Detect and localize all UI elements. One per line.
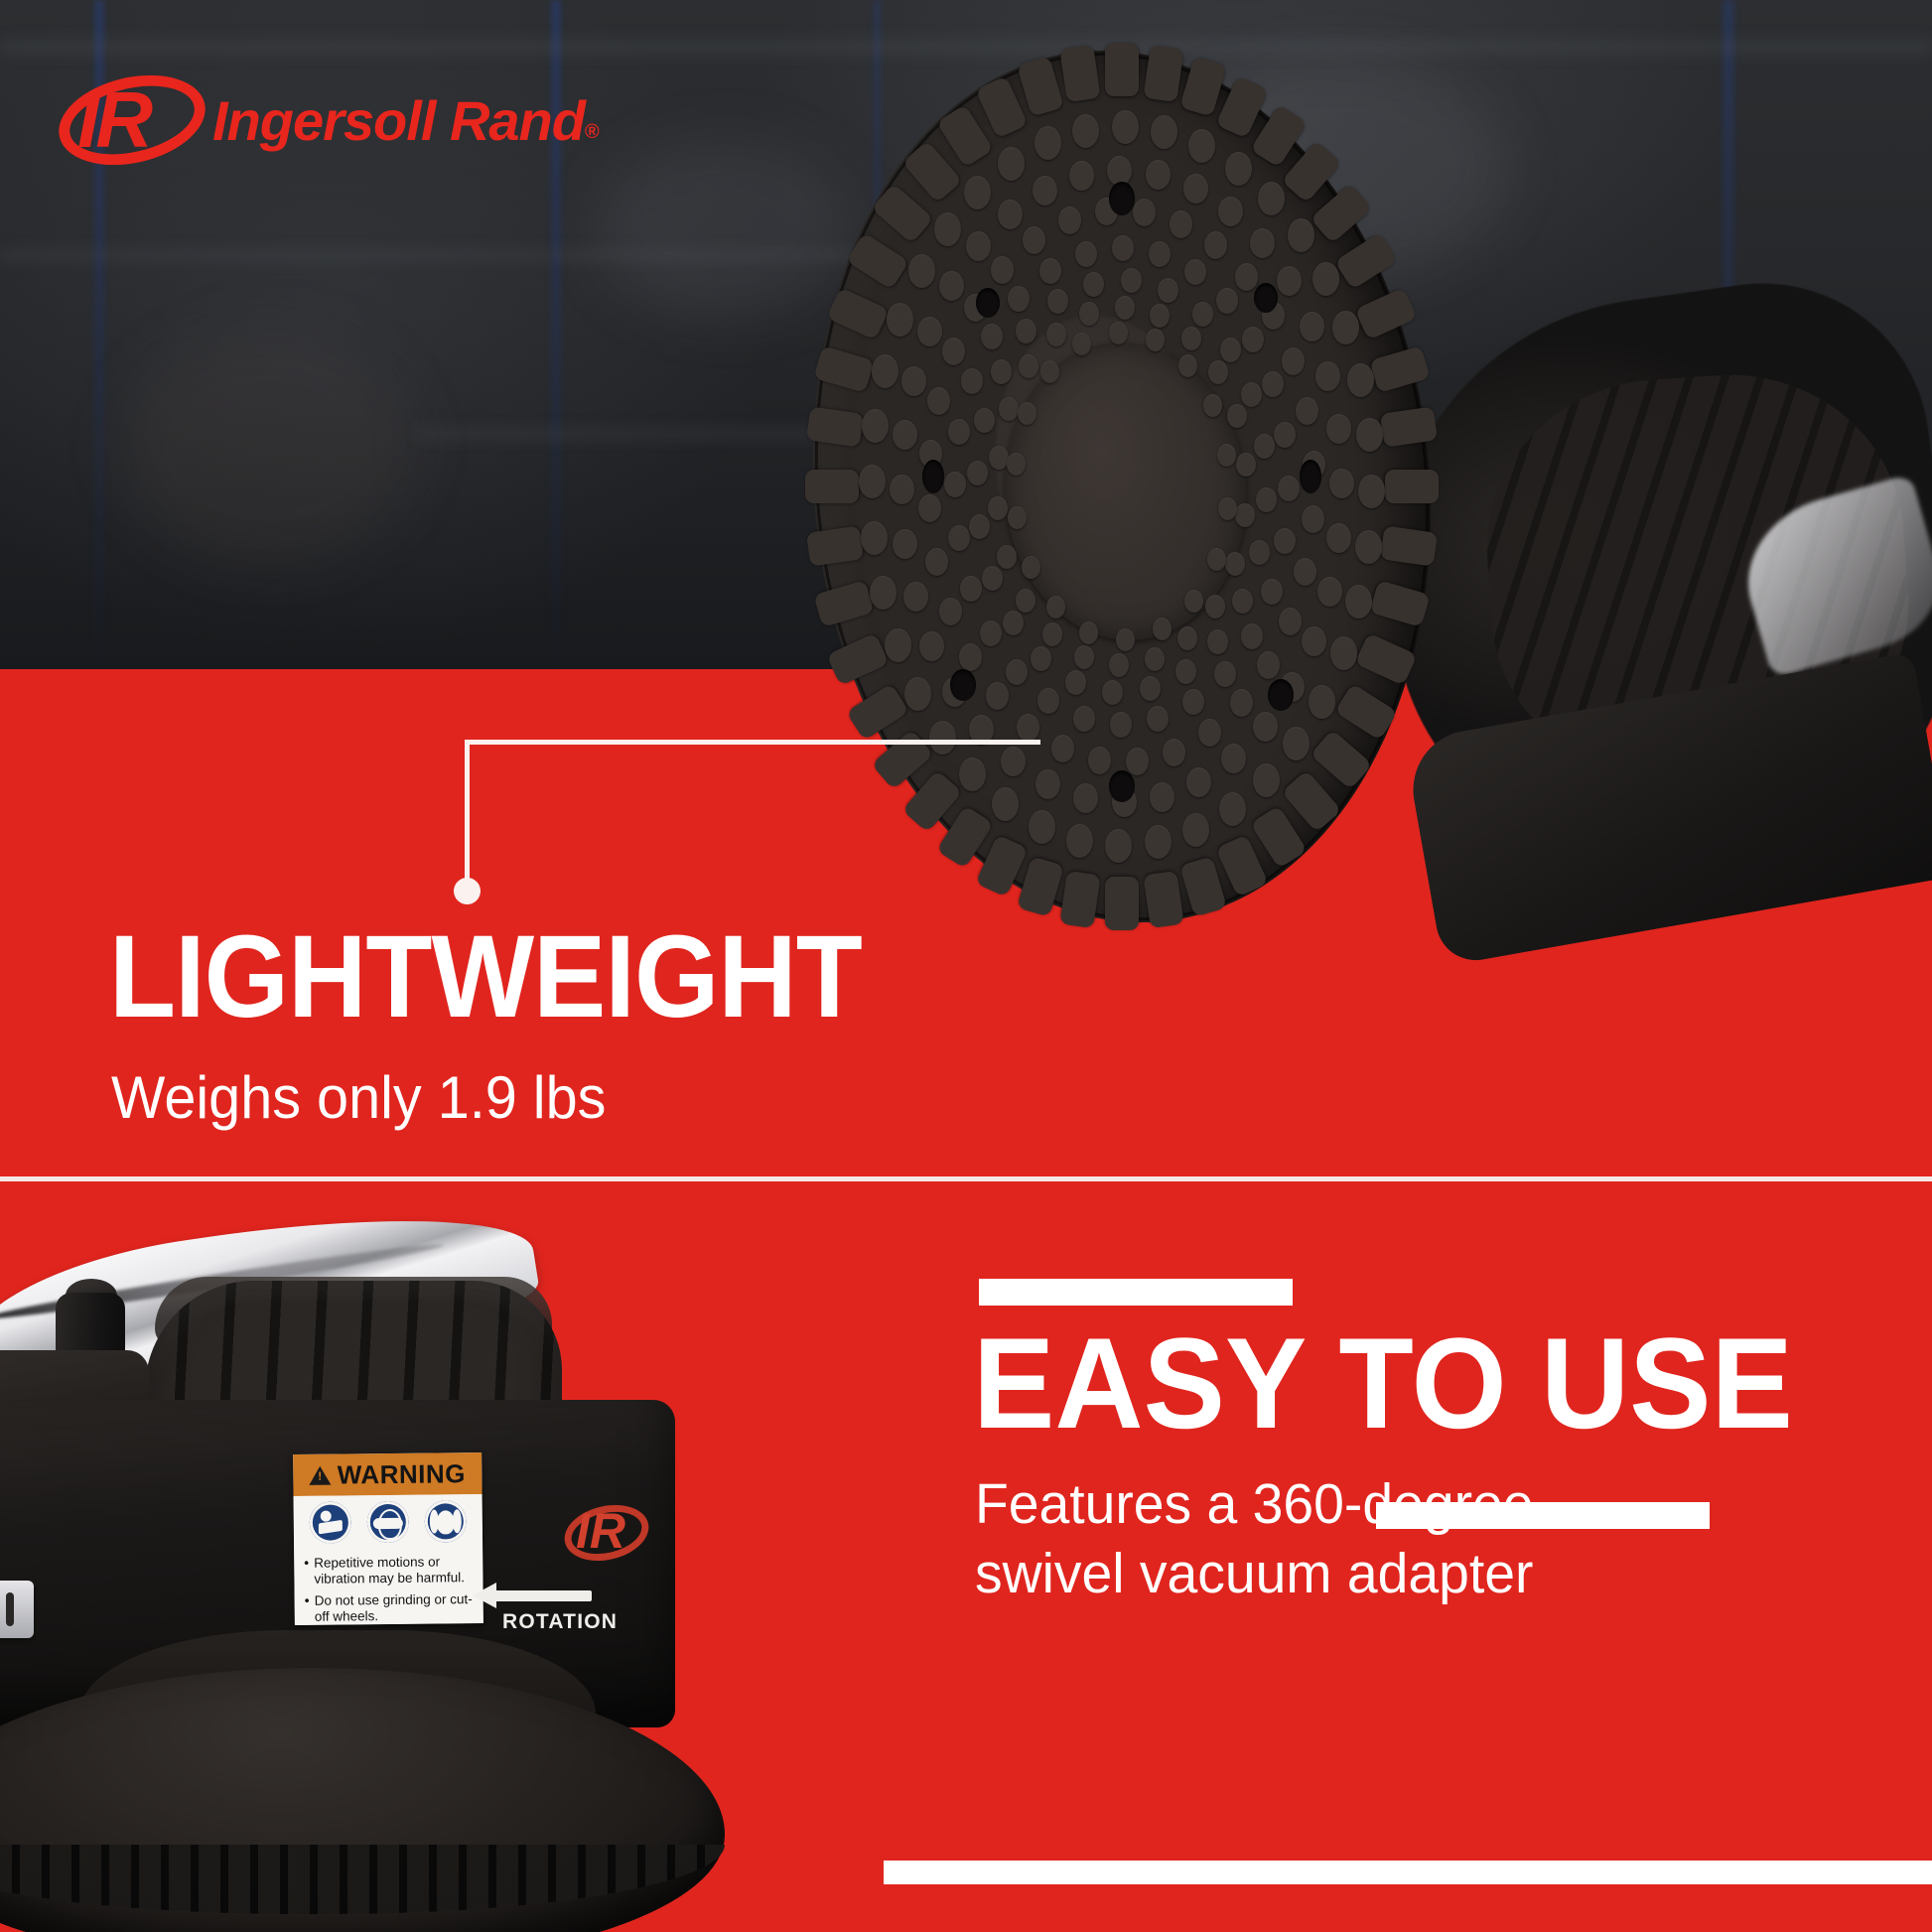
pad-nub <box>1315 361 1340 391</box>
pad-nub <box>1207 548 1226 571</box>
pad-nub <box>1205 595 1225 619</box>
pad-nub <box>1219 792 1246 826</box>
pad-nub <box>1170 210 1192 238</box>
vacuum-hole <box>1300 460 1321 493</box>
warning-bullet-list: Repetitive motions or vibration may be h… <box>294 1548 483 1625</box>
pad-nub <box>1150 782 1174 812</box>
pad-nub <box>1302 505 1324 533</box>
pad-nub <box>1121 268 1142 293</box>
rotation-indicator: ROTATION <box>467 1581 596 1646</box>
pad-nub <box>1225 152 1252 186</box>
pad-nub <box>1198 719 1221 747</box>
pad-nub <box>904 677 931 711</box>
pad-nub <box>1182 813 1209 847</box>
pad-nub <box>1022 556 1040 579</box>
vacuum-hole <box>976 288 1000 318</box>
pad-nub <box>1253 712 1278 742</box>
pad-nub <box>939 598 962 625</box>
pad-nub <box>1242 327 1264 352</box>
pad-nub <box>1072 333 1091 355</box>
vacuum-hole <box>950 669 976 701</box>
pad-nub <box>1203 394 1222 417</box>
ir-logo-letters: IR <box>576 1506 625 1556</box>
pad-nub <box>1047 289 1068 314</box>
ir-monogram-icon: IR <box>58 71 208 169</box>
pad-lug <box>806 525 864 566</box>
pad-nub <box>1153 618 1172 640</box>
vacuum-hole <box>1254 283 1278 313</box>
pad-nub <box>1225 552 1245 576</box>
pad-nub <box>1112 235 1134 261</box>
pad-nub <box>967 461 988 485</box>
pad-nub <box>1088 747 1111 774</box>
pad-nub <box>870 576 897 610</box>
pad-nub <box>1355 530 1382 564</box>
pad-nub <box>927 387 950 415</box>
pad-nub <box>1214 661 1236 687</box>
pad-nub <box>1066 824 1093 858</box>
pad-nub <box>861 521 888 555</box>
pad-nub <box>1008 506 1027 529</box>
pad-nub <box>1317 577 1342 607</box>
pad-nub <box>918 494 941 522</box>
pad-nub <box>893 420 917 450</box>
warning-header-bar: WARNING <box>293 1452 482 1496</box>
pad-nub <box>1254 434 1275 459</box>
warning-pictogram-row <box>294 1494 483 1550</box>
pad-nub <box>1145 647 1165 671</box>
pad-nub <box>989 446 1009 470</box>
pad-nub <box>1230 689 1253 717</box>
pad-nub <box>1241 623 1263 649</box>
pad-nub <box>1033 176 1057 206</box>
pad-nub <box>1235 263 1258 291</box>
pad-nub <box>991 359 1012 384</box>
vacuum-hole <box>1268 679 1294 711</box>
pad-nub <box>1058 207 1081 234</box>
pad-nub <box>1029 810 1055 844</box>
logo-ir-letters: IR <box>77 80 149 160</box>
pad-nub <box>1178 354 1197 377</box>
pad-nub <box>939 271 964 301</box>
read-manual-icon <box>310 1501 351 1543</box>
light-blur <box>119 328 417 566</box>
pad-nub <box>1302 626 1326 656</box>
pad-nub <box>1249 540 1270 565</box>
pad-nub <box>1175 659 1196 684</box>
pad-nub <box>1261 579 1283 605</box>
pad-lug <box>1385 470 1439 503</box>
pad-nub <box>982 566 1003 591</box>
pad-nub <box>1115 296 1135 320</box>
pad-nub <box>1232 589 1253 614</box>
vacuum-hole <box>922 460 944 493</box>
safety-glasses-icon <box>367 1501 409 1543</box>
manual-head-shape <box>321 1511 332 1522</box>
earmuff-head-shape <box>437 1510 455 1534</box>
pad-nub <box>872 354 898 388</box>
pad-nub <box>929 721 956 755</box>
pad-nub <box>1073 783 1098 813</box>
callout-line-vertical <box>465 740 470 891</box>
pad-lug <box>1105 877 1139 930</box>
pad-nub <box>960 576 982 602</box>
pad-lug <box>1380 525 1438 566</box>
pad-nub <box>991 256 1014 284</box>
pad-nub <box>1046 596 1065 619</box>
pad-nub <box>885 628 911 662</box>
vacuum-hole <box>1109 770 1135 802</box>
pad-nub <box>1253 763 1280 797</box>
pad-nub <box>1133 199 1156 226</box>
pad-nub <box>1112 110 1139 144</box>
pad-nub <box>1102 680 1123 705</box>
pad-nub <box>1065 670 1086 695</box>
accent-bar-top <box>979 1279 1293 1306</box>
pad-nub <box>1073 706 1095 732</box>
pad-nub <box>887 303 913 337</box>
pad-nub <box>1181 327 1201 350</box>
warning-header-text: WARNING <box>338 1458 466 1490</box>
pad-nub <box>1218 197 1243 226</box>
pad-nub <box>1282 347 1305 375</box>
pad-nub <box>1075 241 1097 267</box>
pad-nub <box>1006 659 1028 685</box>
warning-triangle-icon <box>310 1465 332 1484</box>
pad-nub <box>903 582 928 612</box>
pad-nub <box>862 409 889 443</box>
pad-nub <box>1079 621 1098 644</box>
pad-nub <box>1074 645 1094 669</box>
ingersoll-rand-logo: IR Ingersoll Rand® <box>58 71 599 169</box>
pad-nub <box>1278 476 1300 501</box>
pad-lug <box>1060 871 1101 928</box>
pad-nub <box>1035 126 1061 160</box>
pad-lug <box>805 470 859 503</box>
bottom-accent-bar <box>884 1861 1932 1884</box>
pad-nub <box>948 525 970 551</box>
glasses-lens-shape <box>373 1518 403 1529</box>
pad-nub <box>1051 735 1074 762</box>
pad-nub <box>1326 414 1351 444</box>
pad-nub <box>1031 646 1051 671</box>
speed-control-notch <box>6 1592 14 1626</box>
ir-logo-on-body: IR <box>564 1502 673 1578</box>
feature-subtitle-easy-to-use: Features a 360-degree swivel vacuum adap… <box>975 1469 1668 1608</box>
pad-lug <box>1143 871 1183 928</box>
pad-nub <box>1001 747 1026 776</box>
pad-nub <box>1145 825 1172 859</box>
pad-nub <box>1279 608 1302 635</box>
pad-nub <box>1105 829 1132 863</box>
pad-lug <box>1105 43 1139 96</box>
pad-nub <box>934 212 961 246</box>
pad-nub <box>1356 418 1383 452</box>
pad-nub <box>1003 611 1024 635</box>
pad-nub <box>901 366 926 396</box>
hearing-protection-icon <box>425 1500 467 1542</box>
rotation-label: ROTATION <box>502 1610 618 1634</box>
pad-nub <box>1236 453 1256 477</box>
pad-nub <box>1163 739 1185 766</box>
registered-mark: ® <box>585 121 599 143</box>
rotation-arrow-icon <box>492 1590 592 1601</box>
pad-nub <box>1227 404 1247 428</box>
pad-nub <box>917 317 942 346</box>
pad-nub <box>859 465 886 498</box>
pad-nub <box>959 758 986 791</box>
callout-line-horizontal <box>465 740 1040 745</box>
warning-label: WARNING Repetitive motions or vibration … <box>293 1452 483 1625</box>
pad-nub <box>1218 497 1237 520</box>
pad-nub <box>1126 748 1149 775</box>
pad-lug <box>1143 45 1183 102</box>
pad-nub <box>1274 528 1296 554</box>
rotation-arrow-head-icon <box>473 1583 496 1608</box>
pad-nub <box>1072 114 1099 148</box>
pad-nub <box>988 496 1008 520</box>
vacuum-hole <box>1109 182 1135 215</box>
sanding-pad-photo <box>814 50 1449 933</box>
pad-nub <box>1017 714 1039 742</box>
pad-nub <box>986 682 1009 710</box>
manual-book-shape <box>319 1520 343 1535</box>
pad-nub <box>1217 444 1236 467</box>
callout-dot <box>454 878 481 904</box>
warning-bullet: Do not use grinding or cut-off wheels. <box>305 1591 476 1625</box>
feature-subtitle-lightweight: Weighs only 1.9 lbs <box>111 1065 606 1131</box>
feature-title-easy-to-use: EASY TO USE <box>973 1315 1793 1450</box>
pad-nub <box>1309 685 1335 719</box>
pad-nub <box>1184 590 1203 613</box>
pad-nub <box>1192 302 1213 327</box>
pad-nub <box>1042 622 1062 646</box>
logo-brand-name: Ingersoll Rand <box>212 89 585 152</box>
pad-nub <box>1250 228 1275 258</box>
pad-nub <box>908 254 935 288</box>
pad-nub <box>1186 767 1211 797</box>
pad-nub <box>1294 558 1316 586</box>
pad-nub <box>890 475 914 504</box>
logo-wordmark: Ingersoll Rand® <box>212 88 599 153</box>
pad-nub <box>1007 453 1026 476</box>
pad-lug <box>1380 407 1438 448</box>
pad-nub <box>1216 288 1238 314</box>
feature-subtitle-wrap: Features a 360-degree swivel vacuum adap… <box>975 1469 1710 1608</box>
pad-nub <box>1258 182 1285 215</box>
pad-nub <box>1262 371 1284 397</box>
pad-nub <box>1182 689 1204 715</box>
pad-nub <box>1207 629 1228 654</box>
pad-nub <box>1046 323 1066 346</box>
product-feature-infographic: IR Ingersoll Rand® LIGHTWEIGHT Weighs on… <box>0 0 1932 1932</box>
pad-nub <box>1347 363 1374 397</box>
pad-nub <box>1330 636 1357 670</box>
pad-nub <box>1256 487 1277 512</box>
pad-nub <box>974 408 995 433</box>
pad-nub <box>1110 712 1132 738</box>
warning-bullet: Repetitive motions or vibration may be h… <box>304 1554 475 1587</box>
pad-nub <box>1208 360 1228 384</box>
feature-title-lightweight: LIGHTWEIGHT <box>109 918 862 1035</box>
section-divider <box>0 1176 1932 1181</box>
pad-nub <box>1083 272 1104 297</box>
pad-nub <box>1183 174 1208 204</box>
pad-nub <box>1300 312 1324 342</box>
pad-nub <box>998 200 1023 229</box>
pad-nub <box>1037 688 1059 714</box>
pad-nub <box>925 548 948 576</box>
pad-nub <box>1109 322 1128 345</box>
